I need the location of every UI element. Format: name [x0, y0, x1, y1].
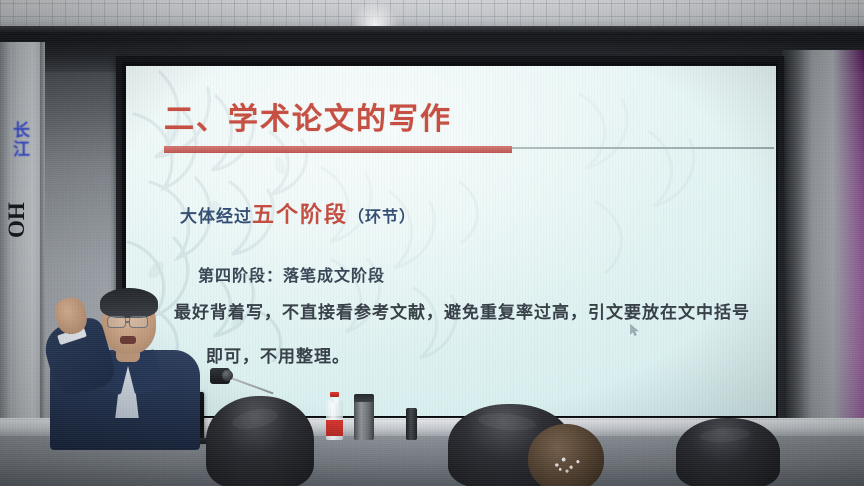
list-item	[676, 418, 780, 486]
floral-ornament-right-icon	[556, 76, 746, 276]
subtitle-suffix: （环节）	[348, 209, 416, 226]
presenter-glasses-bridge	[126, 321, 130, 323]
student-3-hair-clip	[550, 454, 584, 476]
wall-logo-text: 长江	[6, 122, 36, 194]
thermos-flask	[354, 396, 374, 440]
water-bottle-cap	[330, 392, 339, 397]
right-wall-shadow	[782, 50, 812, 438]
slide-title-underline-bar	[164, 146, 512, 153]
slide-body-line-1: 最好背着写，不直接看参考文献，避免重复率过高，引文要放在文中括号	[174, 298, 750, 323]
water-bottle-label	[326, 420, 343, 436]
mouse-pointer-icon[interactable]	[630, 324, 639, 337]
ceiling-light-glow	[352, 0, 398, 28]
slide-stage-heading: 第四阶段：落笔成文阶段	[198, 262, 385, 286]
lecture-hall-scene: 长江 OH	[0, 0, 864, 486]
subtitle-prefix: 大体经过	[180, 207, 252, 226]
left-wall-panel-shadow	[0, 42, 12, 442]
list-item	[206, 396, 314, 486]
presenter-glasses-right-lens	[129, 316, 148, 328]
list-item	[520, 424, 624, 486]
slide-subtitle-line: 大体经过五个阶段（环节）	[180, 197, 416, 229]
wall-logo-subtext: OH	[4, 204, 38, 238]
presenter-hair	[100, 288, 158, 318]
presenter-glasses-left-lens	[107, 316, 126, 328]
thermos-flask-cap	[354, 394, 374, 402]
water-bottle	[326, 392, 343, 440]
black-tumbler	[406, 408, 417, 440]
subtitle-emphasis: 五个阶段	[252, 202, 348, 227]
slide-title: 二、学术论文的写作	[164, 94, 452, 138]
slide-title-thin-rule	[512, 147, 774, 149]
presenter	[34, 276, 224, 446]
slide-body-line-2: 即可，不用整理。	[206, 342, 350, 367]
presenter-mouth	[120, 336, 136, 344]
